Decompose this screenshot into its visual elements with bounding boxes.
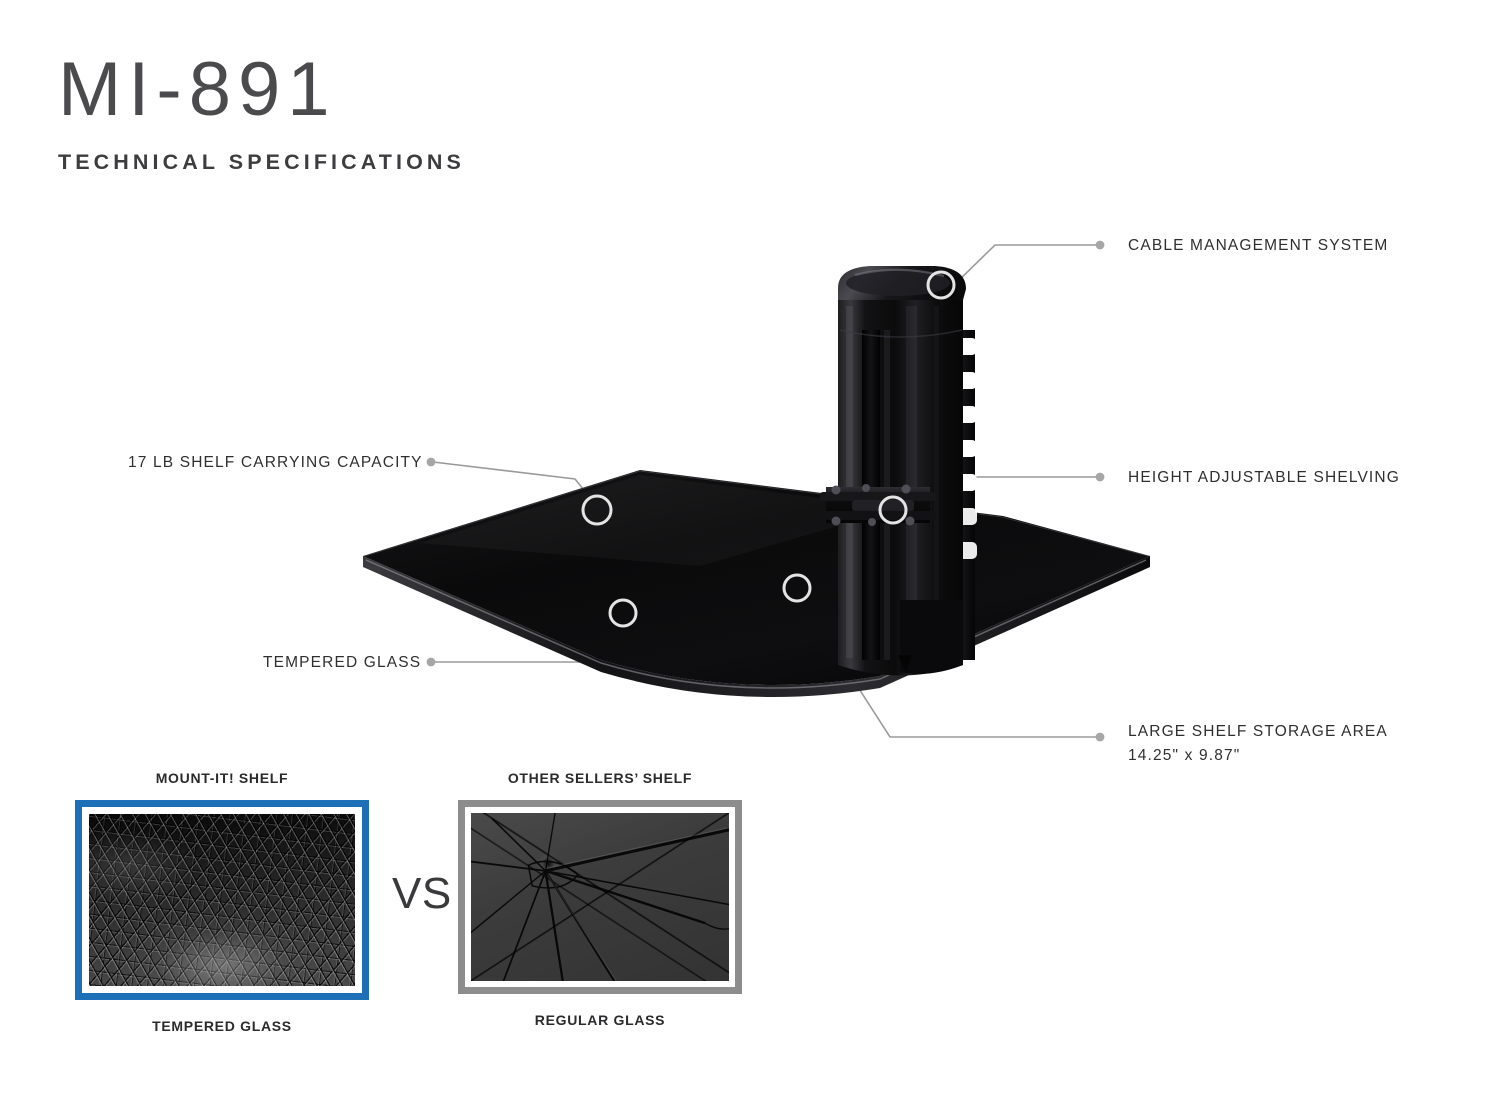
regular-glass-photo — [471, 813, 729, 981]
callout-height-adjustable: HEIGHT ADJUSTABLE SHELVING — [1128, 466, 1400, 490]
vs-separator: VS — [392, 872, 452, 916]
comparison-mountit-title: MOUNT-IT! SHELF — [75, 770, 369, 786]
callout-cable-management: CABLE MANAGEMENT SYSTEM — [1128, 234, 1388, 258]
comparison-other-caption: REGULAR GLASS — [458, 1012, 742, 1028]
regular-glass-cracks — [471, 813, 729, 981]
comparison-other: OTHER SELLERS’ SHELF — [458, 770, 742, 1028]
callout-storage-area: LARGE SHELF STORAGE AREA 14.25" x 9.87" — [1128, 720, 1388, 768]
glass-comparison-section: MOUNT-IT! SHELF TEMPERED GLASS OTHER SEL… — [0, 770, 1500, 1070]
callout-tempered-glass: TEMPERED GLASS — [263, 651, 421, 675]
callout-storage-area-title: LARGE SHELF STORAGE AREA — [1128, 720, 1388, 744]
cable-management-column — [838, 266, 977, 676]
shelf-bracket — [820, 484, 936, 526]
comparison-mountit-caption: TEMPERED GLASS — [75, 1018, 369, 1034]
tempered-glass-photo — [89, 814, 355, 986]
comparison-mountit: MOUNT-IT! SHELF TEMPERED GLASS — [75, 770, 369, 1034]
comparison-other-title: OTHER SELLERS’ SHELF — [458, 770, 742, 786]
glass-shelf — [363, 470, 1150, 697]
callout-carrying-capacity: 17 LB SHELF CARRYING CAPACITY — [128, 451, 423, 475]
other-photo-frame — [458, 800, 742, 994]
callout-storage-area-dimensions: 14.25" x 9.87" — [1128, 744, 1388, 768]
mountit-photo-frame — [75, 800, 369, 1000]
